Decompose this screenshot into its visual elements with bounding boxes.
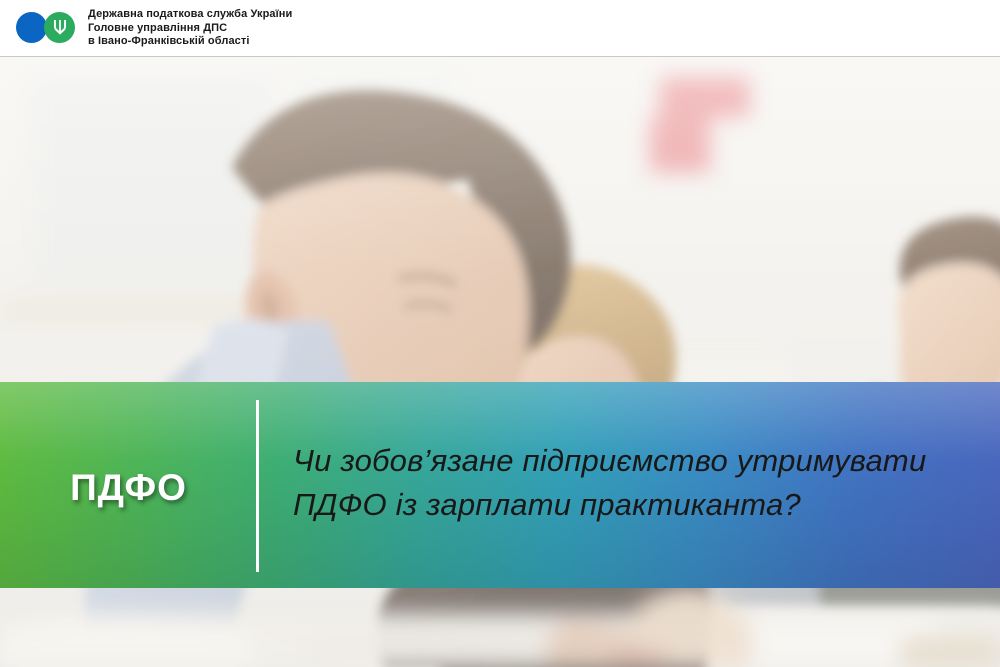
banner-divider	[256, 400, 259, 572]
org-line-1: Державна податкова служба України	[88, 8, 292, 22]
banner-tag-label: ПДФО	[70, 467, 187, 509]
ukraine-trident-icon	[53, 19, 67, 36]
page-root: Державна податкова служба України Головн…	[0, 0, 1000, 667]
banner-tag-area: ПДФО	[0, 382, 257, 588]
banner-question-line-2: ПДФО із зарплати практиканта?	[293, 483, 976, 527]
banner-question-area: Чи зобов’язане підприємство утримувати П…	[257, 380, 1000, 586]
org-line-2: Головне управління ДПС	[88, 22, 292, 36]
organization-name: Державна податкова служба України Головн…	[88, 7, 292, 50]
org-line-3: в Івано-Франківській області	[88, 35, 292, 49]
dps-logo[interactable]	[16, 12, 78, 44]
dps-logo-blue-circle	[16, 12, 47, 43]
site-header: Державна податкова служба України Головн…	[0, 0, 1000, 57]
banner-band: ПДФО Чи зобов’язане підприємство утримув…	[0, 382, 1000, 588]
banner-question-line-1: Чи зобов’язане підприємство утримувати	[293, 439, 976, 483]
